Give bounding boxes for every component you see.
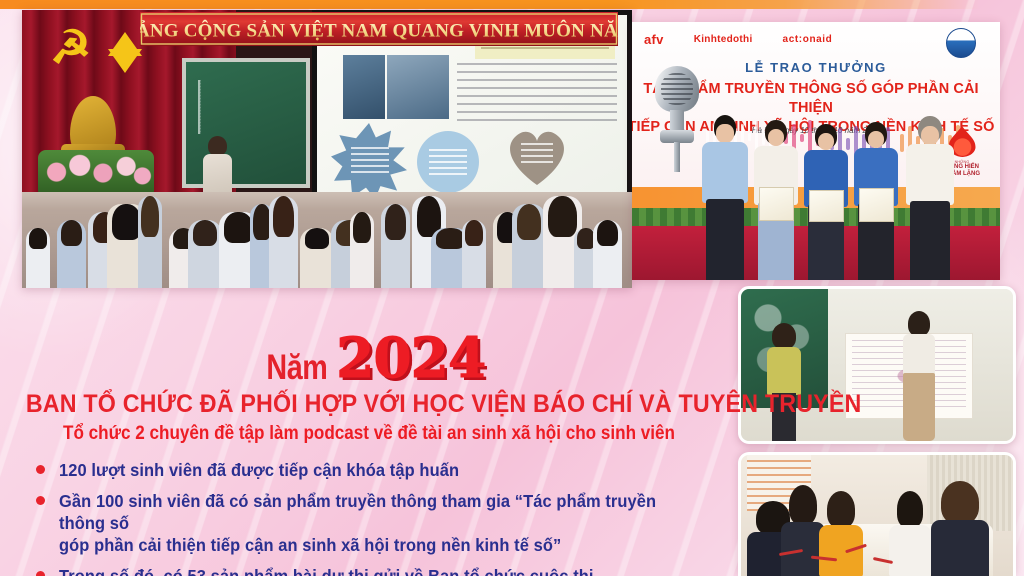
slogan-text: ĐẢNG CỘNG SẢN VIỆT NAM QUANG VINH MUÔN N… [140,19,618,41]
audience-member [462,220,486,288]
audience-head [193,220,217,246]
photo-lecture-hall: ☭ VOICE [22,10,632,288]
person-face [716,124,733,142]
official-right [906,116,954,280]
award-recipient-1 [754,120,798,280]
slogan-banner: ĐẢNG CỘNG SẢN VIỆT NAM QUANG VINH MUÔN N… [140,12,618,46]
slide-photo-right [387,55,449,119]
audience-member [350,212,374,288]
presenter-head [208,136,227,156]
bullet-item: 120 lượt sinh viên đã được tiếp cận khóa… [36,459,738,481]
hammer-sickle-icon: ☭ [50,26,102,68]
person-upper-body [906,144,954,205]
sponsor-logo-row: afv Kinhtedothi act:onaid [644,32,832,47]
certificate [759,187,793,221]
certificate [859,188,893,221]
photo-student-presentation [738,286,1016,444]
photo-award-ceremony: afv Kinhtedothi act:onaid LỄ TRAO THƯỞNG… [632,22,1000,280]
slide-heart-shape [505,127,569,185]
audience-head [353,212,370,243]
audience-member [138,196,162,288]
student-top [903,334,935,376]
student-center-right [889,491,931,575]
student-skirt [903,373,935,441]
audience-member [381,204,410,288]
person-face [921,126,939,145]
student-body [819,525,863,576]
bullet-text: Gần 100 sinh viên đã có sản phẩm truyền … [59,490,697,556]
audience-head [597,220,618,246]
microphone-head [655,66,699,112]
bullet-text: Trong số đó, có 53 sản phẩm bài dự thi g… [59,565,594,576]
audience-head [29,228,46,249]
audience-member [593,220,622,288]
bullet-dot-icon [36,571,45,576]
year-value: 2024 [336,330,485,386]
bullet-list: 120 lượt sinh viên đã được tiếp cận khóa… [0,459,738,576]
infographic-text-block: Năm 2024 BAN TỔ CHỨC ĐÃ PHỐI HỢP VỚI HỌC… [0,330,738,576]
year-label: Năm [266,350,327,386]
certificate [809,190,843,223]
academy-seal-logo [946,28,976,58]
bullet-text: 120 lượt sinh viên đã được tiếp cận khóa… [59,459,459,481]
audience-head [112,204,140,240]
audience-area [22,192,632,288]
kinhtedothi-logo: Kinhtedothi [694,34,753,45]
bullet-dot-icon [36,496,45,505]
student-head [772,323,796,349]
official-left [702,115,748,280]
audience-head [436,228,464,249]
student-head [908,311,930,336]
afv-logo: afv [644,32,664,47]
page-title: BAN TỔ CHỨC ĐÃ PHỐI HỢP VỚI HỌC VIỆN BÁO… [26,390,712,418]
student-yellow-shirt [819,491,863,575]
audience-head [273,196,294,237]
audience-head [465,220,482,246]
person-upper-body [702,142,748,203]
vintage-microphone-graphic [648,66,706,178]
audience-head [224,212,252,243]
audience-member [26,228,50,288]
award-recipient-3 [854,122,898,280]
student-shirt [767,347,801,395]
slide-circle-shape [417,131,479,193]
audience-head [141,196,158,237]
audience-head [305,228,329,249]
student-head [941,481,978,524]
student-head [897,491,924,528]
audience-heads [22,192,632,288]
audience-head [517,204,541,240]
audience-head [61,220,82,246]
audience-member [300,228,334,288]
student-head [789,485,817,525]
audience-head [385,204,406,240]
student-with-microphone [767,323,801,441]
person-face [768,129,785,147]
bullet-dot-icon [36,465,45,474]
page-subtitle: Tổ chức 2 chuyên đề tập làm podcast về đ… [37,421,701,447]
top-orange-strip [0,0,980,9]
audience-member [188,220,222,288]
bullet-item: Trong số đó, có 53 sản phẩm bài dự thi g… [36,565,738,576]
student-foreground-right [931,481,989,576]
bullet-item: Gần 100 sinh viên đã có sản phẩm truyền … [36,490,738,556]
slide-paragraph-block [457,63,617,125]
audience-head [548,196,576,237]
gold-star-icon [108,32,142,56]
microphone-stand [674,142,680,172]
student-head [827,491,855,528]
person-face [868,131,885,149]
person-lower-body [910,201,949,280]
slide-photo-left [343,55,385,119]
student-body [931,520,989,576]
photo-group-work [738,452,1016,576]
person-lower-body [706,199,744,280]
flower-arrangement [38,150,154,198]
actionaid-logo: act:onaid [783,34,833,45]
student-holding-poster [901,311,937,441]
audience-member [57,220,86,288]
audience-member [512,204,546,288]
student-body [889,525,931,576]
microphone-neck [670,110,684,132]
slide-starburst-shape [331,123,407,199]
audience-member [269,196,298,288]
person-face [818,133,835,151]
year-heading: Năm 2024 [0,330,738,386]
award-recipient-2 [804,124,848,280]
